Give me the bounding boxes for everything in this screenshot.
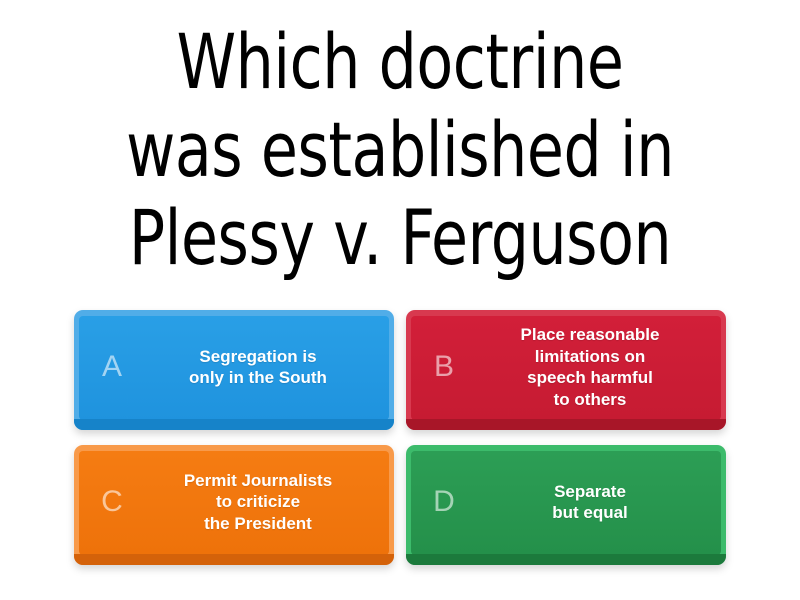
answer-letter-a: A — [84, 352, 140, 382]
answer-option-c[interactable]: C Permit Journalists to criticize the Pr… — [74, 445, 394, 565]
answer-text-d: Separate but equal — [472, 481, 716, 524]
answer-option-b[interactable]: B Place reasonable limitations on speech… — [406, 310, 726, 430]
answer-text-c: Permit Journalists to criticize the Pres… — [140, 470, 384, 535]
answer-options-grid: A Segregation is only in the South B Pla… — [74, 310, 726, 565]
answer-option-a[interactable]: A Segregation is only in the South — [74, 310, 394, 430]
answer-text-a: Segregation is only in the South — [140, 346, 384, 389]
answer-option-d[interactable]: D Separate but equal — [406, 445, 726, 565]
answer-text-b: Place reasonable limitations on speech h… — [472, 324, 716, 410]
question-area: Which doctrine was established in Plessy… — [0, 0, 800, 300]
quiz-slide: Which doctrine was established in Plessy… — [0, 0, 800, 600]
answer-letter-d: D — [416, 487, 472, 517]
answer-card-content: A Segregation is only in the South — [74, 310, 394, 430]
answer-card-content: D Separate but equal — [406, 445, 726, 565]
answer-card-content: B Place reasonable limitations on speech… — [406, 310, 726, 430]
answer-letter-c: C — [84, 487, 140, 517]
answer-letter-b: B — [416, 352, 472, 382]
question-text: Which doctrine was established in Plessy… — [66, 18, 735, 282]
answer-card-content: C Permit Journalists to criticize the Pr… — [74, 445, 394, 565]
